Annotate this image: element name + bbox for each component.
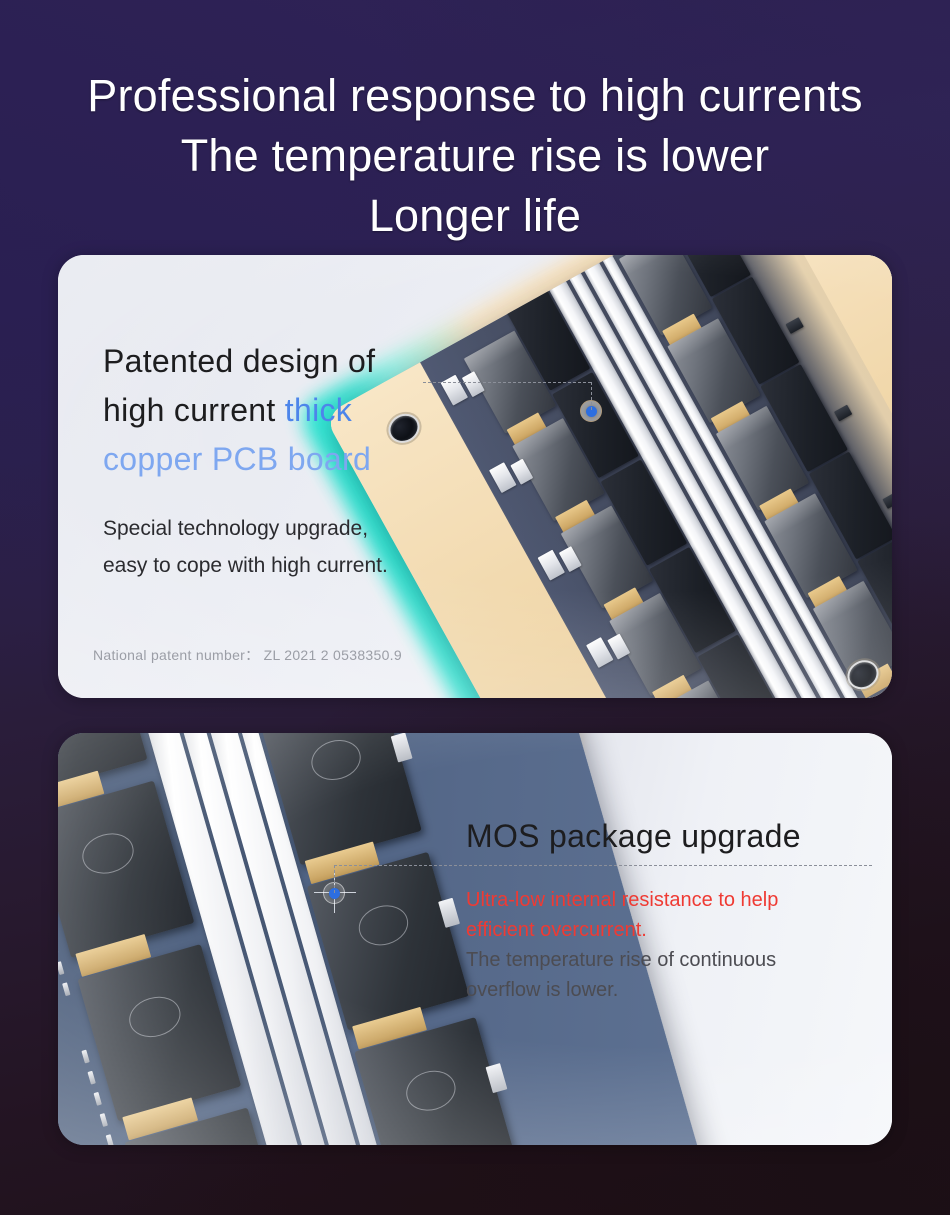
leader-horizontal-line (423, 382, 591, 383)
card1-title-line1: Patented design of (103, 343, 375, 379)
package-marking-oval (306, 734, 365, 785)
headline-line-2: The temperature rise is lower (0, 126, 950, 186)
smd-chip (882, 492, 892, 509)
package-lead (438, 898, 460, 928)
card2-title: MOS package upgrade (466, 818, 801, 855)
patent-number: ZL 2021 2 0538350.9 (264, 647, 402, 663)
card1-subtitle-line1: Special technology upgrade, (103, 517, 368, 540)
pin (87, 1071, 95, 1085)
pin (94, 1092, 102, 1106)
card2-red-line2: efficient overcurrent. (466, 919, 647, 941)
package-lead (391, 733, 413, 762)
headline-block: Professional response to high currents T… (0, 66, 950, 246)
card1-title-line2: high current (103, 392, 276, 428)
leader-vertical-line (591, 382, 592, 410)
leader-horizontal-line (334, 865, 872, 866)
card1-title-highlight2: copper PCB board (103, 441, 371, 477)
package-marking-oval (78, 828, 138, 879)
card-mos-package[interactable]: 1000 1000 1000 MOS package upgrade Ultra… (58, 733, 892, 1145)
pin (62, 982, 70, 996)
leader-vertical-line (334, 865, 335, 893)
pin (58, 961, 64, 975)
card1-subtitle-line2: easy to cope with high current. (103, 554, 388, 577)
patent-note: National patent number： ZL 2021 2 053835… (93, 645, 402, 665)
pin (81, 1050, 89, 1064)
headline-line-3: Longer life (0, 186, 950, 246)
callout-leader-mos (334, 865, 874, 895)
patent-label: National patent number： (93, 647, 259, 663)
package-marking-oval (401, 1065, 460, 1116)
package-marking-oval (354, 900, 413, 951)
card2-gray-text: The temperature rise of continuous overf… (466, 945, 876, 1005)
pin (106, 1134, 114, 1145)
card1-subtitle: Special technology upgrade, easy to cope… (103, 510, 503, 584)
pin (100, 1113, 108, 1127)
package-lead (486, 1063, 508, 1093)
smd-chip (834, 405, 852, 422)
card2-gray-line2: overflow is lower. (466, 979, 618, 1001)
callout-leader-pcb (423, 382, 593, 428)
card2-gray-line1: The temperature rise of continuous (466, 949, 776, 971)
card1-title-highlight1: thick (285, 392, 352, 428)
headline-line-1: Professional response to high currents (0, 66, 950, 126)
package-marking-oval (125, 992, 185, 1043)
smd-chip (785, 317, 803, 334)
card-patented-pcb[interactable]: Patented design of high current thick co… (58, 255, 892, 698)
